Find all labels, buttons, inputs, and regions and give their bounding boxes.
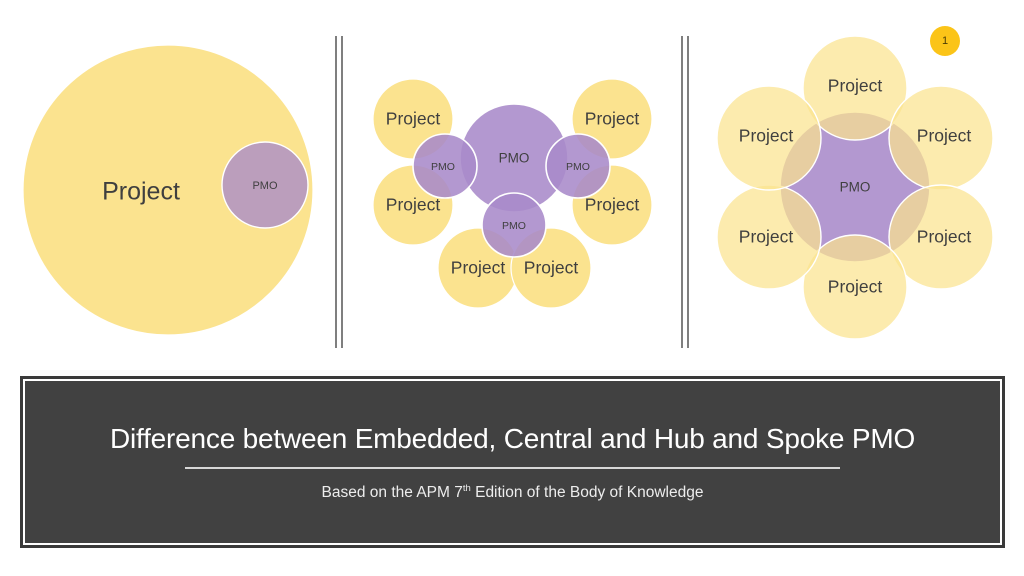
label-project-spoke-bottom-left: Project [739, 227, 794, 247]
label-pmo-central-left: PMO [431, 161, 455, 173]
label-project-spoke-bottom-right: Project [917, 227, 972, 247]
label-project-spoke-bottom: Project [828, 277, 883, 297]
label-project-spoke-top-right: Project [917, 126, 972, 146]
label-project-spoke-top-left: Project [739, 126, 794, 146]
subtitle-suffix: Edition of the Body of Knowledge [471, 485, 704, 502]
panel-central-pmo: Project Project Project Project Project … [373, 79, 652, 308]
label-pmo-hub: PMO [840, 180, 871, 195]
panel-hub-and-spoke-pmo: PMO Project Project Project Project Proj… [717, 36, 993, 339]
divider-line-1b [341, 36, 343, 348]
venn-diagram-svg: Project PMO Project Projec [0, 0, 1024, 372]
label-project-spoke-top: Project [828, 76, 883, 96]
subtitle-prefix: Based on the APM 7 [322, 485, 463, 502]
panel-embedded-pmo: Project PMO [23, 45, 313, 335]
label-pmo-central-bottom: PMO [502, 220, 526, 232]
subtitle-superscript: th [463, 483, 471, 494]
title-divider-rule [185, 467, 840, 469]
panel-divider-2 [681, 36, 689, 348]
label-pmo-central-right: PMO [566, 161, 590, 173]
page-title: Difference between Embedded, Central and… [110, 423, 915, 455]
panel-divider-1 [335, 36, 343, 348]
label-project-central-bottom-right: Project [524, 258, 579, 278]
title-box: Difference between Embedded, Central and… [20, 376, 1005, 548]
slide-number-badge: 1 [930, 26, 960, 56]
label-pmo-central-hub: PMO [499, 151, 530, 166]
label-project-central-tl: Project [386, 109, 441, 129]
label-project-embedded: Project [102, 178, 180, 206]
slide-number-label: 1 [942, 35, 948, 47]
label-pmo-embedded: PMO [252, 180, 278, 192]
divider-line-1a [335, 36, 337, 348]
divider-line-2b [687, 36, 689, 348]
label-project-central-br: Project [585, 195, 640, 215]
slide-canvas: Project PMO Project Projec [0, 0, 1024, 576]
label-project-central-bl: Project [386, 195, 441, 215]
diagram-area: Project PMO Project Projec [0, 0, 1024, 372]
label-project-central-tr: Project [585, 109, 640, 129]
divider-line-2a [681, 36, 683, 348]
page-subtitle: Based on the APM 7th Edition of the Body… [322, 483, 704, 502]
label-project-central-bottom-left: Project [451, 258, 506, 278]
